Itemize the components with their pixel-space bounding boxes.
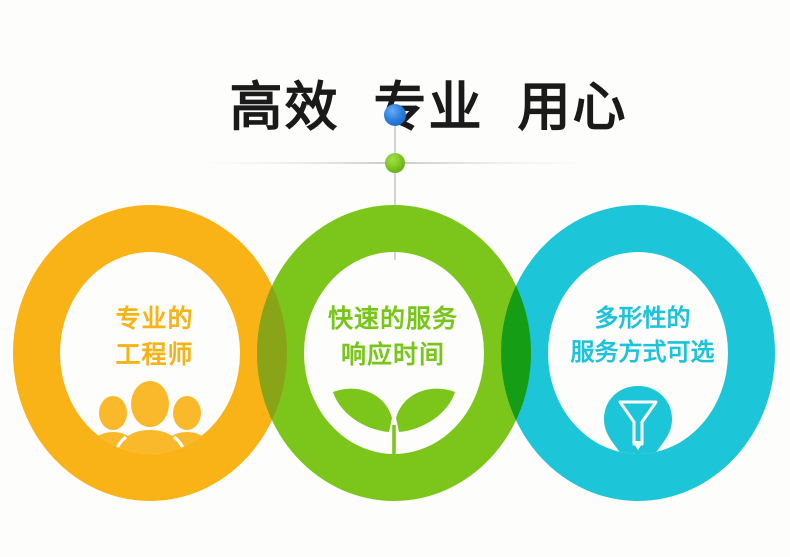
ring-label-options-line2: 服务方式可选: [515, 336, 770, 370]
venn-rings-group: [0, 0, 790, 557]
ring-label-engineers: 专业的 工程师: [47, 302, 262, 373]
overlap-green-cyan: [0, 0, 790, 557]
ring-label-options-line1: 多形性的: [595, 305, 691, 332]
ring-label-response-line2: 响应时间: [283, 338, 503, 374]
ring-label-engineers-line2: 工程师: [47, 338, 262, 374]
ring-label-engineers-line1: 专业的: [115, 305, 193, 333]
ring-label-response: 快速的服务 响应时间: [283, 302, 503, 373]
ring-label-response-line1: 快速的服务: [328, 305, 458, 333]
infographic-canvas: 高效专业用心: [0, 0, 790, 557]
ring-label-options: 多形性的 服务方式可选: [515, 302, 770, 370]
